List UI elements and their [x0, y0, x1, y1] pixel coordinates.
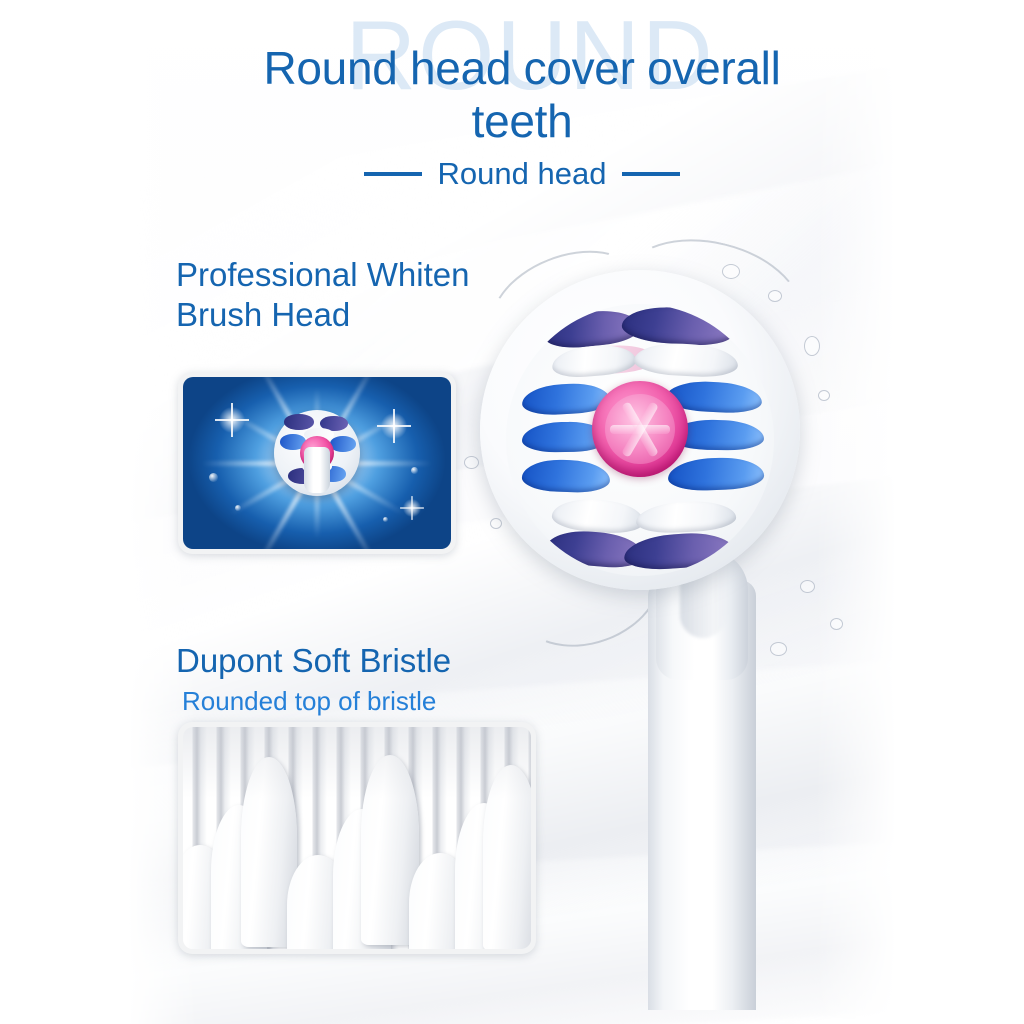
feature-title-bristle: Dupont Soft Bristle: [176, 641, 451, 681]
polishing-cup: [592, 381, 688, 477]
water-droplet-icon: [464, 456, 479, 469]
brush-head-disc: [480, 270, 800, 590]
round-brush-head-product: [470, 250, 890, 1010]
sparkle-icon: [402, 498, 423, 519]
water-droplet-icon: [804, 336, 820, 356]
feature-title-whitening: Professional Whiten Brush Head: [176, 255, 469, 336]
bristle-tip: [183, 845, 229, 949]
water-droplet-icon: [768, 290, 782, 302]
mini-tuft-navy: [284, 414, 314, 430]
feature-subtitle-bristle: Rounded top of bristle: [182, 686, 436, 717]
subtitle-row: Round head: [212, 156, 832, 192]
rule-right-icon: [622, 172, 680, 176]
bristle-tip: [211, 805, 267, 949]
bubble-icon: [411, 467, 418, 474]
water-droplet-icon: [830, 618, 843, 630]
mini-brush-handle: [304, 447, 330, 493]
page-title: Round head cover overall teeth: [212, 42, 832, 149]
bristle-tip: [241, 757, 297, 947]
bristle-tip: [287, 855, 349, 949]
product-banner: ROUND Round head cover overall teeth Rou…: [0, 0, 1024, 1024]
brush-head-face: [506, 304, 774, 576]
tuft-white: [633, 341, 739, 378]
sparkle-icon: [379, 411, 409, 441]
tuft-navy: [623, 530, 735, 572]
bubble-icon: [209, 473, 218, 482]
tuft-navy: [621, 304, 735, 348]
bubble-icon: [235, 505, 241, 511]
mini-tuft-blue: [330, 436, 356, 452]
tuft-blue: [521, 458, 610, 493]
bristle-tip: [361, 755, 419, 945]
water-droplet-icon: [818, 390, 830, 401]
rule-left-icon: [364, 172, 422, 176]
tuft-white: [635, 499, 736, 534]
tuft-white: [551, 497, 645, 535]
water-droplet-icon: [490, 518, 502, 529]
tuft-blue: [667, 456, 764, 491]
bristle-tip: [333, 809, 391, 949]
water-droplet-icon: [800, 580, 815, 593]
water-droplet-icon: [722, 264, 740, 279]
subtitle-text: Round head: [438, 156, 607, 192]
sparkle-icon: [217, 405, 247, 435]
whitening-brush-head-photo: [178, 372, 456, 554]
bristle-tip: [409, 853, 471, 949]
water-droplet-icon: [770, 642, 787, 656]
tuft-white: [551, 342, 637, 379]
bubble-icon: [383, 517, 388, 522]
